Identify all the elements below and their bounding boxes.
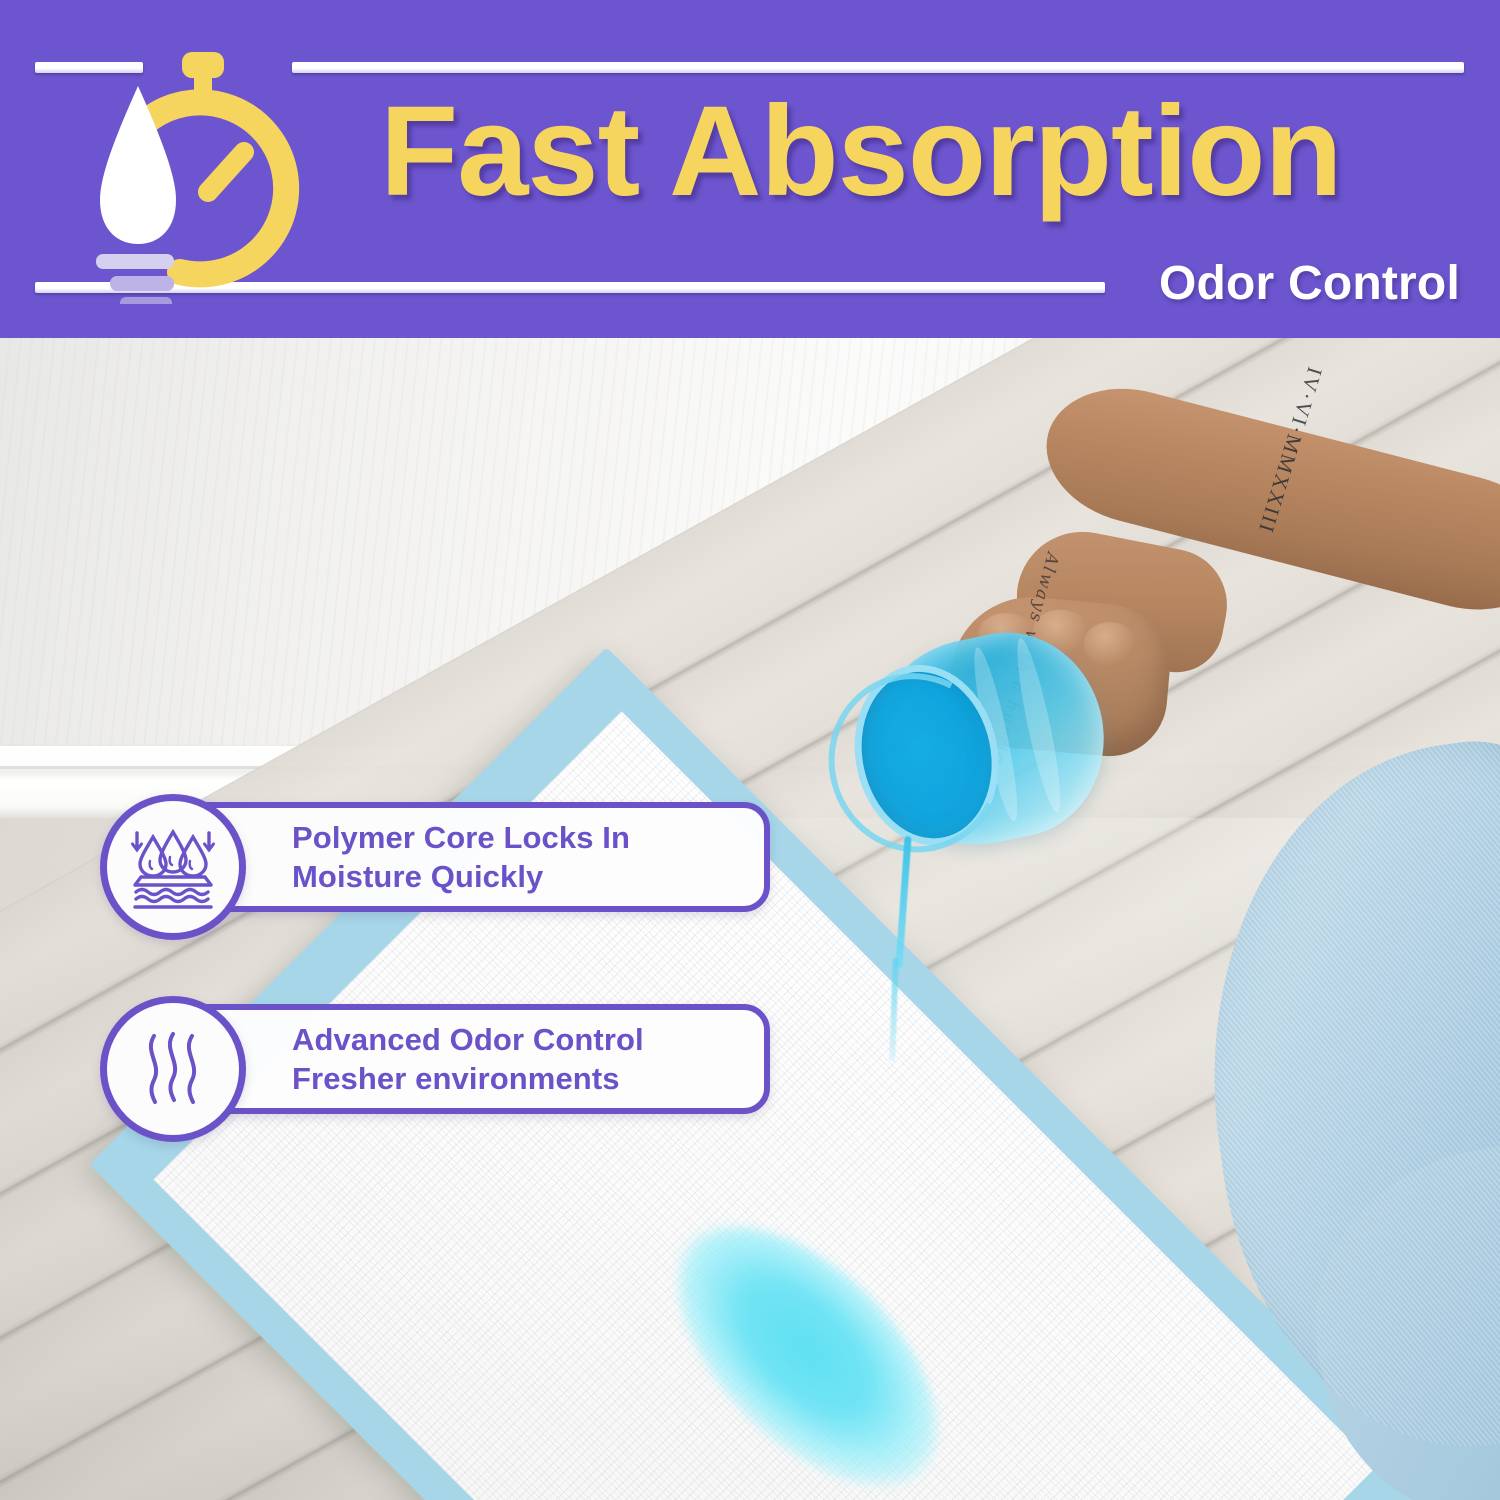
feature-text-box: Advanced Odor Control Fresher environmen…	[182, 1004, 770, 1114]
product-marketing-image: Fast Absorption Odor Control	[0, 0, 1500, 1500]
feature-line-2: Fresher environments	[292, 1059, 644, 1098]
feature-line-2: Moisture Quickly	[292, 857, 630, 896]
feature-text-box: Polymer Core Locks In Moisture Quickly	[182, 802, 770, 912]
feature-icon-badge	[100, 996, 246, 1142]
absorbing-droplets-icon	[125, 819, 221, 915]
droplet-stopwatch-icon	[72, 44, 322, 304]
page-title: Fast Absorption	[380, 88, 1450, 216]
product-photo-scene: IV·VI·MMXXIII Always with a hurricane Po…	[0, 338, 1500, 1500]
feature-icon-badge	[100, 794, 246, 940]
banner-subtitle: Odor Control	[1159, 256, 1460, 311]
feature-line-1: Polymer Core Locks In	[292, 818, 630, 857]
odor-waves-icon	[128, 1024, 218, 1114]
feature-line-1: Advanced Odor Control	[292, 1020, 644, 1059]
divider-line-top-right	[292, 62, 1464, 73]
feature-label: Advanced Odor Control Fresher environmen…	[292, 1020, 644, 1098]
header-banner: Fast Absorption Odor Control	[0, 0, 1500, 338]
feature-label: Polymer Core Locks In Moisture Quickly	[292, 818, 630, 896]
